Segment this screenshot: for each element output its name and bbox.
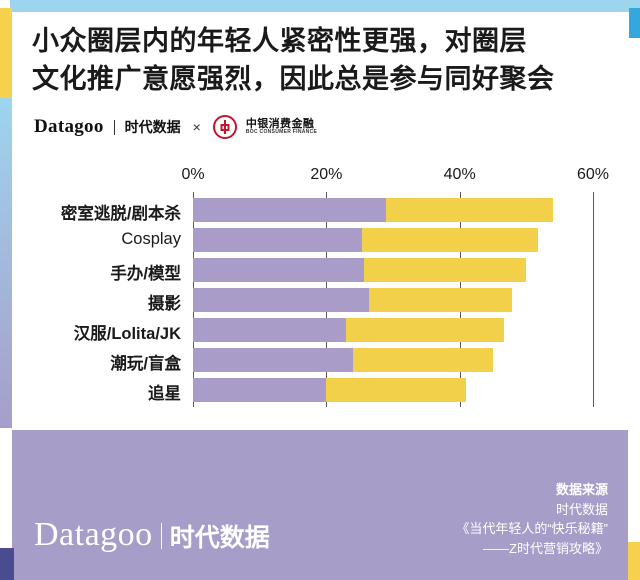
footer: Datagoo 时代数据 数据来源 时代数据 《当代年轻人的“快乐秘籍” ——Z… [12, 430, 628, 580]
y-axis-category-label: 潮玩/盲盒 [110, 350, 181, 374]
chart-bar-segment [193, 228, 362, 252]
boc-logo-icon [213, 115, 237, 139]
footer-datagoo-wordmark: Datagoo [34, 518, 153, 552]
data-source-line-1: 时代数据 [456, 500, 608, 520]
chart-bar-row [193, 348, 593, 372]
datagoo-chinese-name: 时代数据 [125, 117, 181, 137]
y-axis-category-label: 追星 [148, 380, 181, 404]
bottom-left-navy-square [0, 548, 14, 580]
chart-bar-row [193, 378, 593, 402]
partner-name-block: 中银消费金融 BOC CONSUMER FINANCE [246, 119, 317, 136]
right-edge-blue-stripe [629, 8, 640, 38]
y-axis-category-label: 手办/模型 [110, 260, 181, 284]
chart-bar-segment [193, 258, 364, 282]
chart-bar-segment [193, 288, 369, 312]
chart-plot-area: 0%20%40%60%密室逃脱/剧本杀Cosplay手办/模型摄影汉服/Loli… [193, 192, 593, 407]
headline-line-1: 小众圈层内的年轻人紧密性更强，对圈层 [32, 22, 612, 60]
brand-row: Datagoo 时代数据 × 中银消费金融 BOC CONSUMER FINAN… [34, 115, 317, 139]
data-source-title: 数据来源 [456, 480, 608, 500]
chart-bar-segment [193, 378, 326, 402]
brand-divider [114, 120, 115, 135]
partner-name-en: BOC CONSUMER FINANCE [246, 130, 317, 135]
chart-bar-segment [193, 348, 353, 372]
data-source-block: 数据来源 时代数据 《当代年轻人的“快乐秘籍” ——Z时代营销攻略》 [456, 480, 608, 558]
chart-bar-segment [364, 258, 527, 282]
top-edge-stripe [10, 0, 640, 12]
stacked-bar-chart: 0%20%40%60%密室逃脱/剧本杀Cosplay手办/模型摄影汉服/Loli… [12, 162, 628, 417]
chart-bar-segment [193, 318, 346, 342]
bottom-right-yellow-stripe [628, 542, 640, 580]
chart-bar-segment [353, 348, 493, 372]
footer-divider [161, 523, 162, 549]
x-axis-tick-label: 20% [310, 166, 342, 184]
headline-line-2: 文化推广意愿强烈，因此总是参与同好聚会 [32, 60, 612, 98]
footer-datagoo-chinese-name: 时代数据 [170, 526, 270, 551]
data-source-line-2: 《当代年轻人的“快乐秘籍” [456, 519, 608, 539]
left-edge-blue-stripe [0, 98, 12, 428]
footer-logo: Datagoo 时代数据 [34, 518, 270, 552]
y-axis-category-label: Cosplay [121, 230, 181, 249]
page-title: 小众圈层内的年轻人紧密性更强，对圈层 文化推广意愿强烈，因此总是参与同好聚会 [32, 22, 612, 99]
x-axis-tick-label: 0% [181, 166, 204, 184]
chart-bar-row [193, 288, 593, 312]
chart-bar-segment [362, 228, 538, 252]
chart-bar-row [193, 228, 593, 252]
chart-bar-segment [326, 378, 466, 402]
chart-bar-segment [386, 198, 553, 222]
chart-gridline-60 [593, 192, 594, 407]
chart-bar-row [193, 198, 593, 222]
chart-bar-row [193, 318, 593, 342]
x-axis-tick-label: 60% [577, 166, 609, 184]
content-card: 小众圈层内的年轻人紧密性更强，对圈层 文化推广意愿强烈，因此总是参与同好聚会 D… [12, 12, 628, 430]
chart-bar-segment [369, 288, 512, 312]
chart-bar-segment [346, 318, 503, 342]
collaboration-x-icon: × [193, 119, 201, 135]
y-axis-category-label: 汉服/Lolita/JK [74, 320, 181, 344]
data-source-line-3: ——Z时代营销攻略》 [456, 539, 608, 559]
chart-bar-row [193, 258, 593, 282]
datagoo-wordmark: Datagoo [34, 116, 104, 138]
y-axis-category-label: 摄影 [148, 290, 181, 314]
infographic-poster: 小众圈层内的年轻人紧密性更强，对圈层 文化推广意愿强烈，因此总是参与同好聚会 D… [0, 0, 640, 580]
left-edge-yellow-stripe [0, 8, 12, 98]
chart-bar-segment [193, 198, 386, 222]
y-axis-category-label: 密室逃脱/剧本杀 [61, 200, 181, 224]
x-axis-tick-label: 40% [444, 166, 476, 184]
